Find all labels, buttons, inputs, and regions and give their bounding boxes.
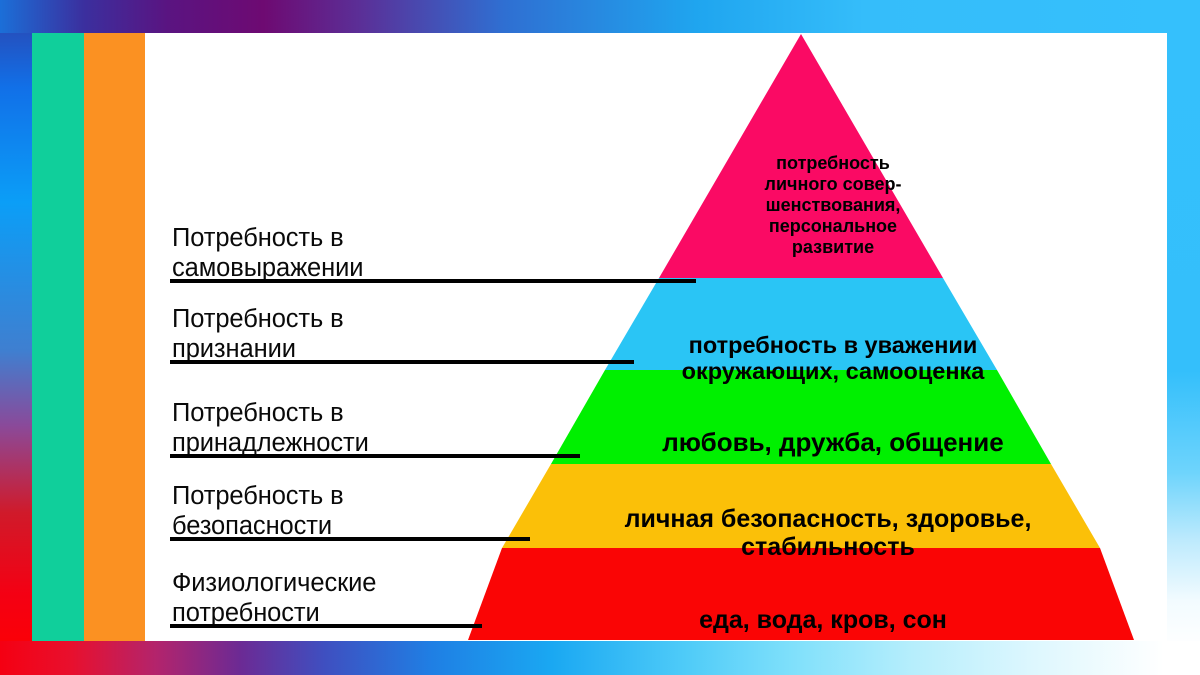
level-label-1: Потребность в самовыражении <box>170 223 730 283</box>
frame-edge-bottom <box>0 641 1200 675</box>
leader-line-2 <box>170 360 634 364</box>
frame-edge-left <box>0 0 32 675</box>
tier-content-esteem: потребность в уважении окружающих, самоо… <box>598 333 1068 385</box>
frame-edge-right <box>1167 0 1200 675</box>
slide-canvas: Потребность в самовыражении Потребность … <box>32 33 1167 641</box>
level-label-row-1: Потребность в самовыражении <box>170 223 730 283</box>
leader-line-4 <box>170 537 530 541</box>
frame-edge-top <box>0 0 1200 33</box>
leader-line-1 <box>170 279 696 283</box>
tier-content-physiological: еда, вода, кров, сон <box>418 607 1200 633</box>
slide-frame: Потребность в самовыражении Потребность … <box>0 0 1200 675</box>
teal-accent-bar <box>32 33 84 641</box>
tier-content-safety: личная безопасность, здоровье, стабильно… <box>478 505 1178 561</box>
tier-content-belonging: любовь, дружба, общение <box>538 429 1128 456</box>
leader-line-3 <box>170 454 580 458</box>
tier-content-self-actualization: потребность личного совер- шенствования,… <box>698 153 968 257</box>
orange-accent-bar <box>84 33 145 641</box>
